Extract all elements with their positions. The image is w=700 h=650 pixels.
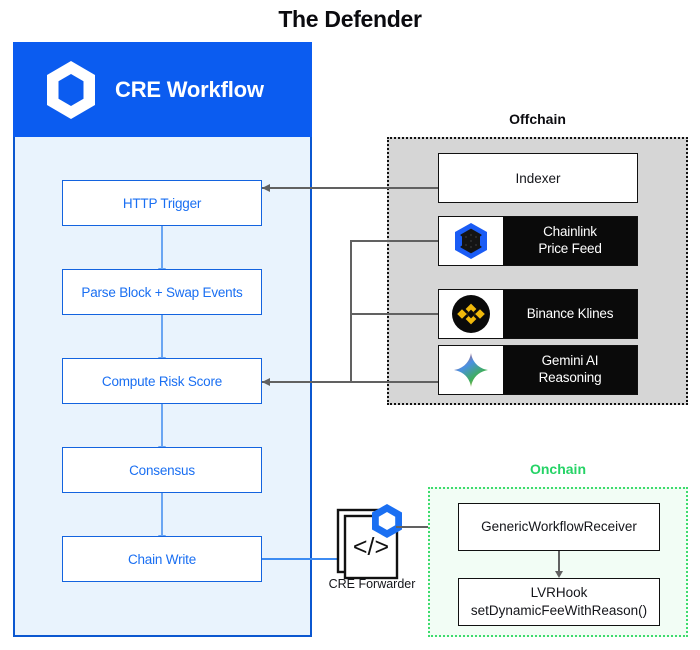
workflow-step-chain-write[interactable]: Chain Write [62,536,262,582]
onchain-contract-label: LVRHook setDynamicFeeWithReason() [471,584,647,619]
workflow-connector-arrow [161,226,163,269]
offchain-source-indexer[interactable]: Indexer [438,153,638,203]
connector-gemini-branch [350,381,438,383]
binance-icon [439,290,503,338]
offchain-group-label: Offchain [387,111,688,127]
chainlink-icon [439,217,503,265]
workflow-step-label: Parse Block + Swap Events [81,285,242,300]
workflow-step-consensus[interactable]: Consensus [62,447,262,493]
page-title: The Defender [0,6,700,33]
connector-indexer-to-http-trigger [262,187,438,189]
offchain-source-label: Indexer [515,171,560,186]
connector-binance-branch [350,313,438,315]
onchain-group-label: Onchain [428,461,688,477]
workflow-step-label: Chain Write [128,552,196,567]
chainlink-hexagon-icon [43,59,99,121]
gemini-icon [439,346,503,394]
offchain-source-gemini-ai-reasoning[interactable]: Gemini AI Reasoning [438,345,638,395]
connector-arrowhead [262,378,270,386]
connector-data-bus [350,240,352,382]
cre-workflow-title: CRE Workflow [115,77,264,103]
connector-receiver-to-lvrhook [558,551,560,572]
offchain-source-chainlink-price-feed[interactable]: Chainlink Price Feed [438,216,638,266]
connector-chainlink-branch [350,240,438,242]
onchain-contract-generic-workflow-receiver[interactable]: GenericWorkflowReceiver [458,503,660,551]
offchain-source-binance-klines[interactable]: Binance Klines [438,289,638,339]
workflow-connector-arrow [161,315,163,358]
workflow-step-compute-risk-score[interactable]: Compute Risk Score [62,358,262,404]
connector-bus-to-compute-risk [262,381,351,383]
offchain-source-label: Binance Klines [503,290,637,338]
onchain-contract-lvrhook[interactable]: LVRHook setDynamicFeeWithReason() [458,578,660,626]
cre-forwarder-label: CRE Forwarder [312,577,432,591]
onchain-contract-label: GenericWorkflowReceiver [481,518,637,536]
connector-arrowhead [262,184,270,192]
offchain-source-label: Gemini AI Reasoning [503,346,637,394]
workflow-step-http-trigger[interactable]: HTTP Trigger [62,180,262,226]
diagram-canvas: The Defender CRE Workflow HTTP Trigger P… [0,0,700,650]
workflow-step-label: Compute Risk Score [102,374,222,389]
svg-text:</>: </> [353,533,389,561]
workflow-step-parse-block[interactable]: Parse Block + Swap Events [62,269,262,315]
workflow-step-label: Consensus [129,463,195,478]
cre-workflow-header: CRE Workflow [13,42,312,137]
workflow-connector-arrow [161,493,163,536]
workflow-step-label: HTTP Trigger [123,196,201,211]
workflow-connector-arrow [161,404,163,447]
offchain-source-label: Chainlink Price Feed [503,217,637,265]
